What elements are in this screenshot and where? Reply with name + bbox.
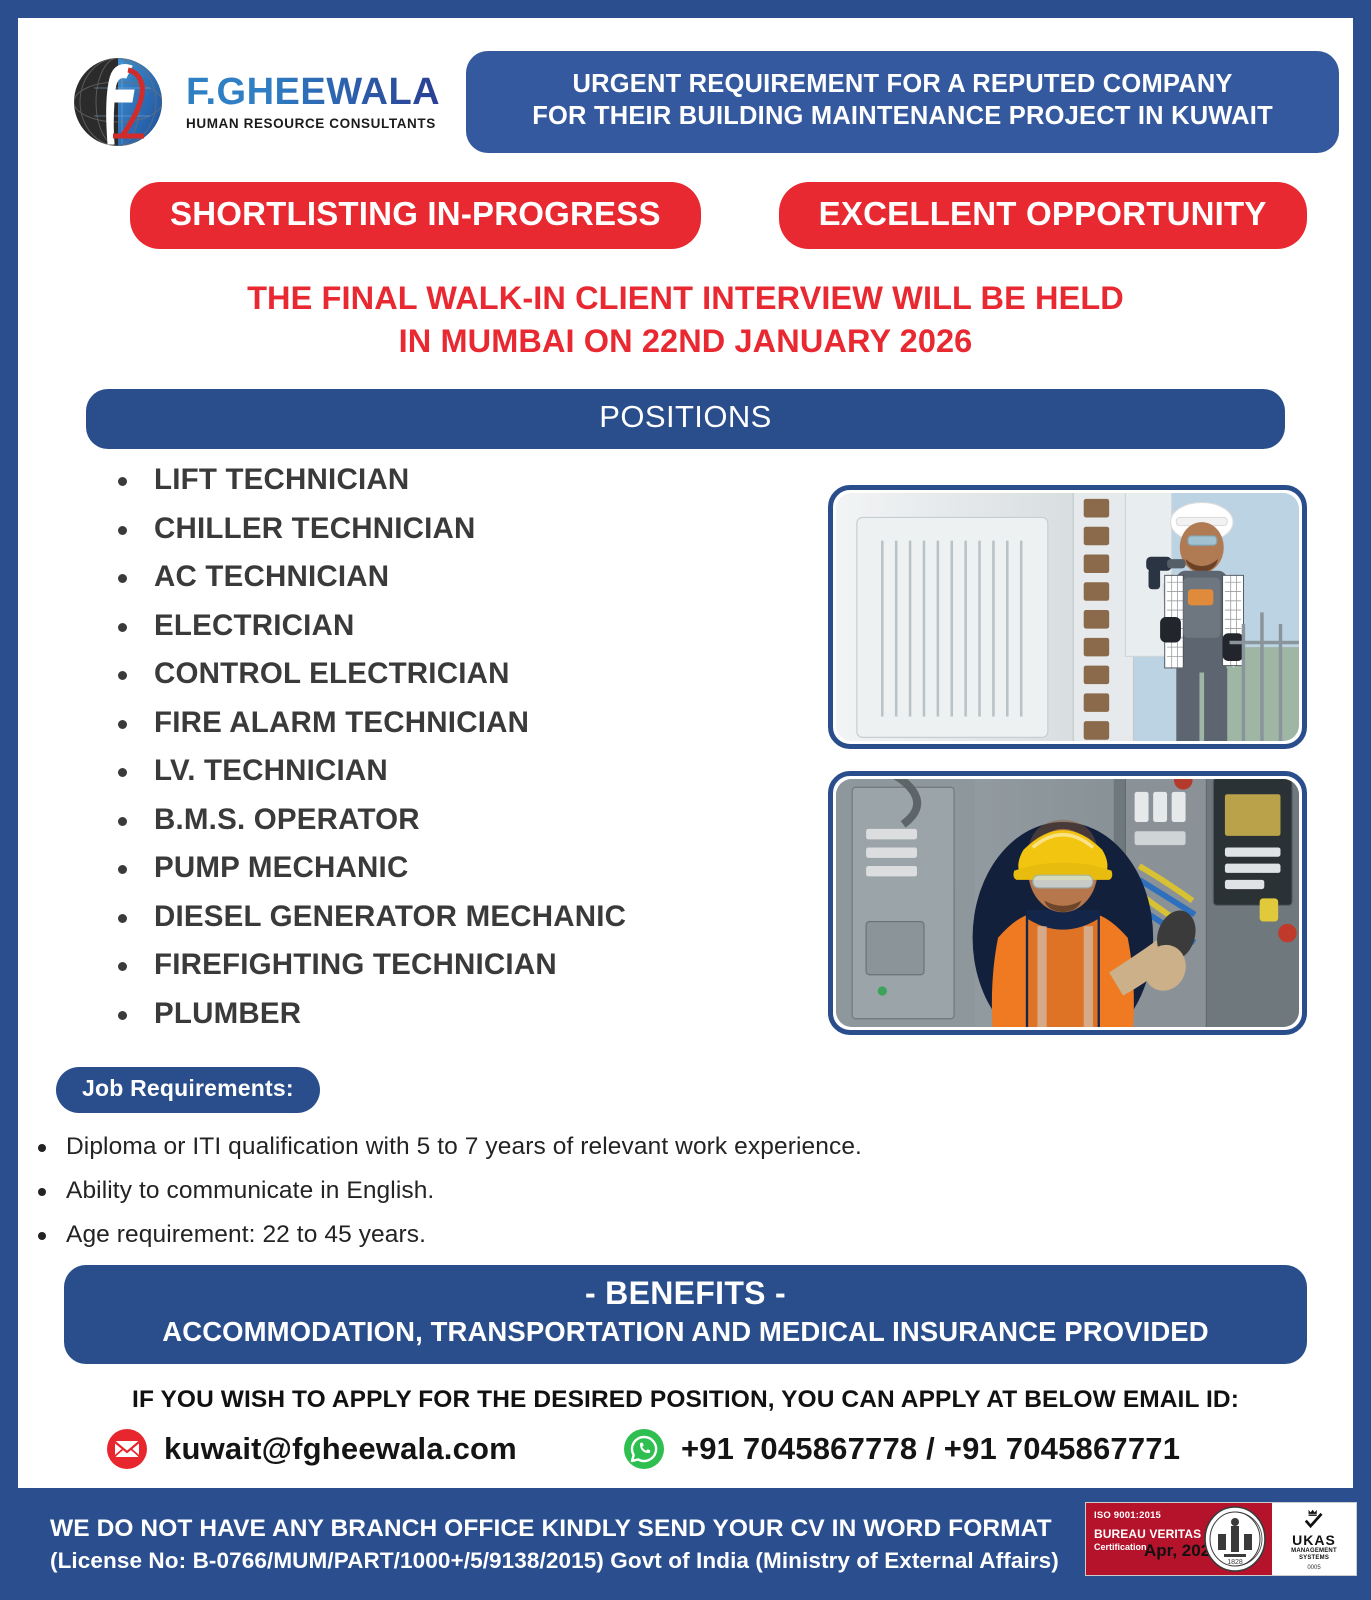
poster-root: F.GHEEWALA HUMAN RESOURCE CONSULTANTS UR… xyxy=(0,0,1371,1600)
list-item: Diploma or ITI qualification with 5 to 7… xyxy=(24,1133,1353,1161)
globe-f-logo-icon xyxy=(64,48,172,156)
ukas-crown-tick-icon xyxy=(1284,1507,1344,1530)
email-contact[interactable]: kuwait@fgheewala.com xyxy=(106,1428,517,1470)
ac-technician-photo xyxy=(836,493,1299,741)
benefits-title: - BENEFITS - xyxy=(72,1275,1299,1312)
header-line-2: FOR THEIR BUILDING MAINTENANCE PROJECT I… xyxy=(480,101,1325,133)
list-item: B.M.S. OPERATOR xyxy=(96,803,828,837)
phone-contact[interactable]: +91 7045867778 / +91 7045867771 xyxy=(623,1428,1180,1470)
iso-certification-badge: ISO 9001:2015 BUREAU VERITAS Certificati… xyxy=(1085,1502,1357,1576)
list-item: Ability to communicate in English. xyxy=(24,1177,1353,1205)
list-item: PUMP MECHANIC xyxy=(96,851,828,885)
status-badge-opportunity: EXCELLENT OPPORTUNITY xyxy=(779,182,1307,249)
company-name: F.GHEEWALA xyxy=(186,73,440,111)
phone-numbers: +91 7045867778 / +91 7045867771 xyxy=(681,1431,1180,1467)
bureau-veritas-seal-icon: 1828 xyxy=(1202,1506,1268,1572)
list-item: LV. TECHNICIAN xyxy=(96,754,828,788)
positions-column: LIFT TECHNICIAN CHILLER TECHNICIAN AC TE… xyxy=(18,463,828,1057)
positions-list: LIFT TECHNICIAN CHILLER TECHNICIAN AC TE… xyxy=(96,463,828,1031)
list-item: LIFT TECHNICIAN xyxy=(96,463,828,497)
benefits-text: ACCOMMODATION, TRANSPORTATION AND MEDICA… xyxy=(72,1316,1299,1348)
requirements-label: Job Requirements: xyxy=(56,1067,320,1113)
header-line-1: URGENT REQUIREMENT FOR A REPUTED COMPANY xyxy=(480,69,1325,101)
footer-text: WE DO NOT HAVE ANY BRANCH OFFICE KINDLY … xyxy=(0,1512,1059,1577)
company-logo: F.GHEEWALA HUMAN RESOURCE CONSULTANTS xyxy=(64,48,440,156)
list-item: CHILLER TECHNICIAN xyxy=(96,512,828,546)
ukas-sublabel: MANAGEMENT SYSTEMS xyxy=(1276,1548,1352,1562)
whatsapp-icon xyxy=(623,1428,665,1470)
list-item: ELECTRICIAN xyxy=(96,609,828,643)
footer-line-1: WE DO NOT HAVE ANY BRANCH OFFICE KINDLY … xyxy=(50,1512,1059,1546)
ukas-panel: UKAS MANAGEMENT SYSTEMS 0005 xyxy=(1272,1503,1356,1575)
list-item: Age requirement: 22 to 45 years. xyxy=(24,1221,1353,1249)
benefits-block: - BENEFITS - ACCOMMODATION, TRANSPORTATI… xyxy=(64,1265,1307,1364)
footer-line-2: (License No: B-0766/MUM/PART/1000+/5/913… xyxy=(50,1545,1059,1576)
status-badge-shortlisting: SHORTLISTING IN-PROGRESS xyxy=(130,182,701,249)
poster-footer: WE DO NOT HAVE ANY BRANCH OFFICE KINDLY … xyxy=(0,1488,1371,1600)
poster-sheet: F.GHEEWALA HUMAN RESOURCE CONSULTANTS UR… xyxy=(18,18,1353,1488)
poster-header: F.GHEEWALA HUMAN RESOURCE CONSULTANTS UR… xyxy=(18,18,1353,156)
walkin-announcement: THE FINAL WALK-IN CLIENT INTERVIEW WILL … xyxy=(18,277,1353,363)
walkin-line-2: IN MUMBAI ON 22ND JANUARY 2026 xyxy=(18,320,1353,363)
walkin-line-1: THE FINAL WALK-IN CLIENT INTERVIEW WILL … xyxy=(18,277,1353,320)
list-item: FIREFIGHTING TECHNICIAN xyxy=(96,948,828,982)
list-item: DIESEL GENERATOR MECHANIC xyxy=(96,900,828,934)
body-columns: LIFT TECHNICIAN CHILLER TECHNICIAN AC TE… xyxy=(18,449,1353,1057)
positions-heading: POSITIONS xyxy=(86,389,1285,449)
company-tagline: HUMAN RESOURCE CONSULTANTS xyxy=(186,117,440,131)
email-address: kuwait@fgheewala.com xyxy=(164,1431,517,1467)
requirements-list: Diploma or ITI qualification with 5 to 7… xyxy=(18,1133,1353,1249)
ukas-label: UKAS xyxy=(1292,1532,1336,1548)
electrician-panel-photo xyxy=(836,779,1299,1027)
envelope-icon xyxy=(106,1428,148,1470)
status-badge-row: SHORTLISTING IN-PROGRESS EXCELLENT OPPOR… xyxy=(18,156,1353,249)
list-item: CONTROL ELECTRICIAN xyxy=(96,657,828,691)
list-item: FIRE ALARM TECHNICIAN xyxy=(96,706,828,740)
list-item: PLUMBER xyxy=(96,997,828,1031)
photo-frame-top xyxy=(828,485,1307,749)
header-banner: URGENT REQUIREMENT FOR A REPUTED COMPANY… xyxy=(466,51,1339,153)
svg-text:1828: 1828 xyxy=(1227,1559,1243,1566)
cert-left-panel: ISO 9001:2015 BUREAU VERITAS Certificati… xyxy=(1086,1503,1272,1575)
contact-row: kuwait@fgheewala.com +91 7045867778 / +9… xyxy=(18,1414,1353,1470)
ukas-number: 0005 xyxy=(1307,1565,1320,1571)
apply-instruction: IF YOU WISH TO APPLY FOR THE DESIRED POS… xyxy=(18,1386,1353,1414)
photos-column xyxy=(828,463,1353,1057)
photo-frame-bottom xyxy=(828,771,1307,1035)
list-item: AC TECHNICIAN xyxy=(96,560,828,594)
